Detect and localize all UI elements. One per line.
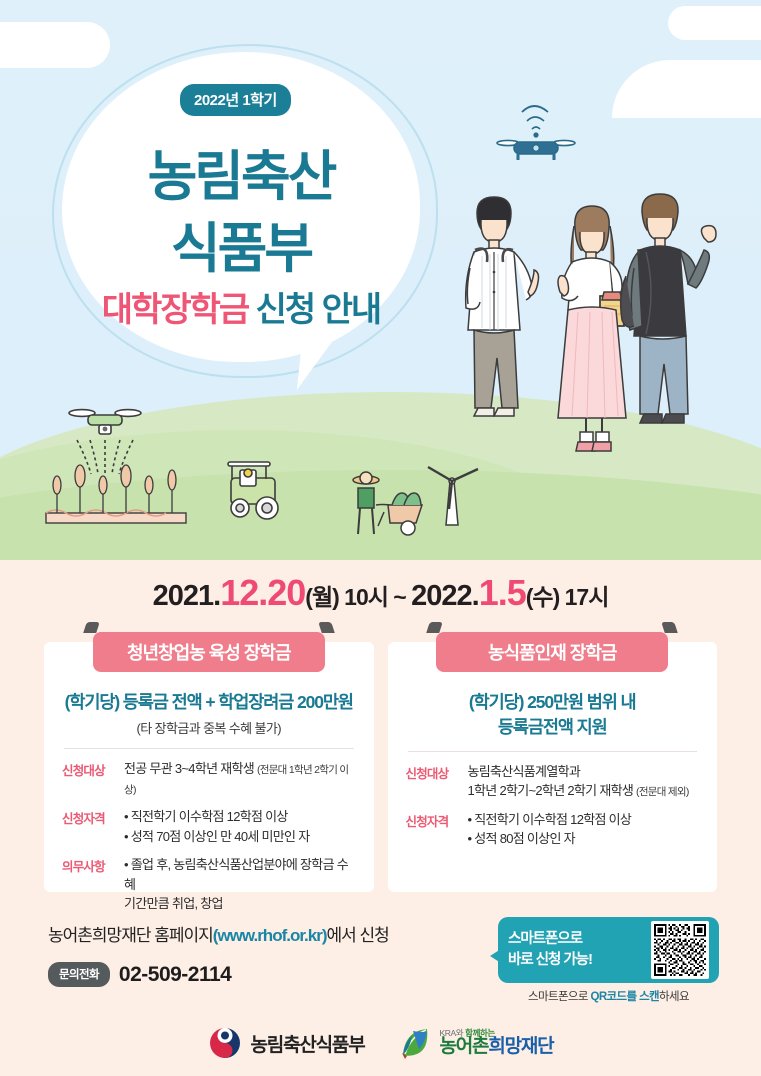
leaf-logo-icon <box>399 1027 431 1059</box>
detail-row: 신청대상 농림축산식품계열학과 1학년 2학기~2학년 2학기 재학생 (전문대… <box>406 762 700 801</box>
detail-label: 신청대상 <box>62 759 124 799</box>
homepage-url-link[interactable]: (www.rhof.or.kr) <box>213 926 327 945</box>
application-period: 2021.12.20(월) 10시 ~ 2022.1.5(수) 17시 <box>0 572 761 614</box>
ministry-name: 농림축산식품부 <box>251 1030 365 1057</box>
rhof-name-a: 농어촌 <box>440 1036 489 1057</box>
detail-bullet: • 성적 80점 이상인 자 <box>468 829 700 849</box>
card-amount: (학기당) 등록금 전액 + 학업장려금 200만원 <box>60 690 358 715</box>
poster-title-line2: 식품부 <box>0 204 482 283</box>
detail-text: 전공 무관 3~4학년 재학생 <box>124 761 254 776</box>
ribbon-notch-icon <box>318 622 335 633</box>
period-weekday-start: (월) 10시 ~ <box>305 584 411 610</box>
card-divider <box>408 751 698 752</box>
detail-value: 농림축산식품계열학과 1학년 2학기~2학년 2학기 재학생 (전문대 제외) <box>468 762 700 801</box>
detail-bullet: • 직전학기 이수학점 12학점 이상 <box>468 810 700 830</box>
qr-callout-text: 스마트폰으로 바로 신청 가능! <box>508 929 651 970</box>
poster-title-line1: 농림축산 <box>0 132 482 211</box>
period-weekday-end: (수) 17시 <box>526 584 609 610</box>
ribbon-label: 농식품인재 장학금 <box>488 639 616 665</box>
detail-row: 신청자격 • 직전학기 이수학점 12학점 이상 • 성적 70점 이상인 만 … <box>62 807 356 846</box>
detail-text: 농림축산식품계열학과 <box>468 762 700 782</box>
period-year-start: 2021. <box>153 580 221 612</box>
detail-note: (전문대 제외) <box>636 786 689 798</box>
qr-code-image[interactable] <box>651 921 709 979</box>
qr-caption-b: QR코드를 스캔 <box>590 991 659 1003</box>
period-year-end: 2022. <box>411 580 479 612</box>
poster-subtitle: 대학장학금 신청 안내 <box>0 282 482 331</box>
speech-bubble-tail <box>297 328 339 393</box>
card-detail-rows: 신청대상 농림축산식품계열학과 1학년 2학기~2학년 2학기 재학생 (전문대… <box>404 762 702 849</box>
detail-value: • 직전학기 이수학점 12학점 이상 • 성적 80점 이상인 자 <box>468 810 700 849</box>
qr-text-line1: 스마트폰으로 <box>508 929 651 950</box>
qr-caption-a: 스마트폰으로 <box>528 991 590 1003</box>
card-ribbon-title: 농식품인재 장학금 <box>436 632 668 672</box>
apply-prefix: 농어촌희망재단 홈페이지 <box>48 926 213 945</box>
card-divider <box>64 748 354 749</box>
logo-rhof: KRA와 함께하는 농어촌희망재단 <box>399 1027 554 1059</box>
detail-label: 신청자격 <box>62 807 124 846</box>
detail-row: 의무사항 • 졸업 후, 농림축산식품산업분야에 장학금 수혜 기간만큼 취업,… <box>62 855 356 914</box>
qr-caption: 스마트폰으로 QR코드를 스캔하세요 <box>498 988 719 1004</box>
scholarship-card-youth-farmer: 청년창업농 육성 장학금 (학기당) 등록금 전액 + 학업장려금 200만원 … <box>44 642 374 892</box>
card-amount: (학기당) 250만원 범위 내 등록금전액 지원 <box>404 690 702 740</box>
card-detail-rows: 신청대상 전공 무관 3~4학년 재학생 (전문대 1학년 2학기 이상) 신청… <box>60 759 358 914</box>
ribbon-label: 청년창업농 육성 장학금 <box>127 639 291 665</box>
phone-number: 02-509-2114 <box>119 963 231 987</box>
hero-sky: 2022년 1학기 농림축산 식품부 대학장학금 신청 안내 <box>0 0 761 560</box>
qr-text-line2: 바로 신청 가능! <box>508 950 651 971</box>
ribbon-notch-icon <box>661 622 678 633</box>
card-amount-line2: 등록금전액 지원 <box>404 715 702 740</box>
detail-label: 신청대상 <box>406 762 468 801</box>
apply-suffix: 에서 신청 <box>326 926 388 945</box>
taegeuk-emblem-icon <box>208 1026 242 1060</box>
period-date-end: 1.5 <box>479 572 526 613</box>
scholarship-cards: 청년창업농 육성 장학금 (학기당) 등록금 전액 + 학업장려금 200만원 … <box>44 642 717 892</box>
detail-value: 전공 무관 3~4학년 재학생 (전문대 1학년 2학기 이상) <box>124 759 356 799</box>
card-amount-note: (타 장학금과 중복 수혜 불가) <box>60 718 358 737</box>
ribbon-notch-icon <box>83 622 100 633</box>
period-date-start: 12.20 <box>220 572 305 613</box>
detail-bullet: • 성적 70점 이상인 만 40세 미만인 자 <box>124 827 356 847</box>
card-amount-line1: (학기당) 등록금 전액 + 학업장려금 200만원 <box>65 692 353 712</box>
detail-bullet: 기간만큼 취업, 창업 <box>124 894 356 914</box>
detail-label: 신청자격 <box>406 810 468 849</box>
scholarship-card-agrifood-talent: 농식품인재 장학금 (학기당) 250만원 범위 내 등록금전액 지원 신청대상… <box>388 642 718 892</box>
detail-value: • 직전학기 이수학점 12학점 이상 • 성적 70점 이상인 만 40세 미… <box>124 807 356 846</box>
qr-callout: 스마트폰으로 바로 신청 가능! <box>498 917 719 983</box>
subtitle-highlight: 대학장학금 <box>102 291 248 329</box>
ribbon-notch-icon <box>426 622 443 633</box>
poster: 2022년 1학기 농림축산 식품부 대학장학금 신청 안내 2021.12.2… <box>0 0 761 1076</box>
rhof-name-b: 희망재단 <box>488 1036 553 1057</box>
detail-value: • 졸업 후, 농림축산식품산업분야에 장학금 수혜 기간만큼 취업, 창업 <box>124 855 356 914</box>
subtitle-rest: 신청 안내 <box>248 291 380 329</box>
detail-label: 의무사항 <box>62 855 124 914</box>
detail-row: 신청대상 전공 무관 3~4학년 재학생 (전문대 1학년 2학기 이상) <box>62 759 356 799</box>
detail-row: 신청자격 • 직전학기 이수학점 12학점 이상 • 성적 80점 이상인 자 <box>406 810 700 849</box>
detail-bullet: • 직전학기 이수학점 12학점 이상 <box>124 807 356 827</box>
detail-bullet: • 졸업 후, 농림축산식품산업분야에 장학금 수혜 <box>124 855 356 894</box>
detail-text-inner: 1학년 2학기~2학년 2학기 재학생 <box>468 783 634 798</box>
rhof-name: 농어촌희망재단 <box>440 1037 554 1057</box>
phone-tag-label: 문의전화 <box>48 962 110 987</box>
semester-badge: 2022년 1학기 <box>180 84 291 116</box>
logo-ministry: 농림축산식품부 <box>208 1026 365 1060</box>
card-ribbon-title: 청년창업농 육성 장학금 <box>93 632 325 672</box>
contact-phone: 문의전화 02-509-2114 <box>48 962 231 987</box>
rhof-name-stack: KRA와 함께하는 농어촌희망재단 <box>440 1029 554 1058</box>
qr-caption-c: 하세요 <box>659 991 689 1003</box>
card-amount-line1: (학기당) 250만원 범위 내 <box>469 692 636 712</box>
detail-text: 1학년 2학기~2학년 2학기 재학생 (전문대 제외) <box>468 781 700 801</box>
apply-instruction: 농어촌희망재단 홈페이지(www.rhof.or.kr)에서 신청 <box>48 921 389 946</box>
footer-logos: 농림축산식품부 KRA와 함께하는 농어촌희망재단 <box>0 1026 761 1060</box>
